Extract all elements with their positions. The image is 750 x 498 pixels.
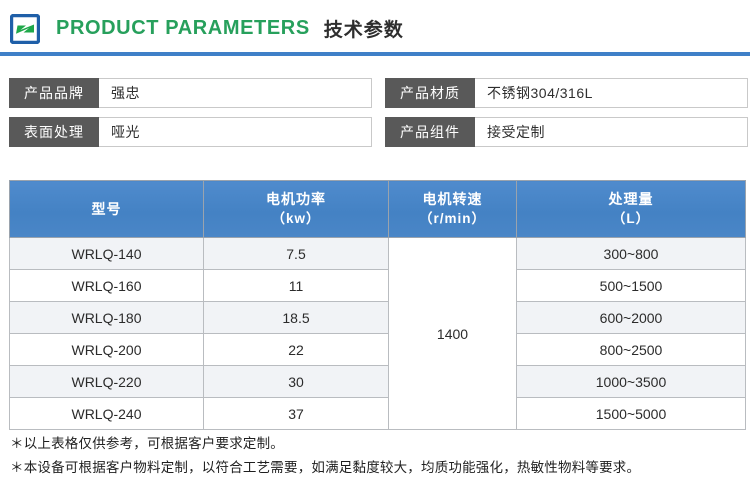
parameter-label: 产品组件	[385, 117, 475, 147]
table-row: WRLQ-220 30 1000~3500	[10, 366, 746, 398]
cell-power: 37	[204, 398, 389, 430]
parameter-value: 不锈钢304/316L	[475, 78, 748, 108]
parameter-row: 表面处理 哑光 产品组件 接受定制	[0, 117, 750, 147]
cell-capacity: 1000~3500	[517, 366, 746, 398]
cell-model: WRLQ-220	[10, 366, 204, 398]
cell-power: 18.5	[204, 302, 389, 334]
note-line-2: ＊本设备可根据客户物料定制，以符合工艺需要，如满足黏度较大，均质功能强化，热敏性…	[10, 456, 746, 480]
square-bolt-logo-icon	[10, 14, 40, 44]
cell-power: 30	[204, 366, 389, 398]
cell-capacity: 800~2500	[517, 334, 746, 366]
page-header: PRODUCT PARAMETERS 技术参数	[0, 0, 750, 56]
cell-power: 22	[204, 334, 389, 366]
column-header-model: 型号	[10, 181, 204, 238]
column-title: 电机转速	[423, 191, 483, 207]
table-row: WRLQ-180 18.5 600~2000	[10, 302, 746, 334]
cell-model: WRLQ-140	[10, 238, 204, 270]
parameter-item-component: 产品组件 接受定制	[385, 117, 748, 147]
parameter-item-brand: 产品品牌 强忠	[9, 78, 372, 108]
cell-rpm-merged: 1400	[389, 238, 517, 430]
parameter-value: 强忠	[99, 78, 372, 108]
cell-model: WRLQ-180	[10, 302, 204, 334]
parameter-item-surface: 表面处理 哑光	[9, 117, 372, 147]
parameter-row: 产品品牌 强忠 产品材质 不锈钢304/316L	[0, 78, 750, 108]
cell-capacity: 500~1500	[517, 270, 746, 302]
parameter-item-material: 产品材质 不锈钢304/316L	[385, 78, 748, 108]
spec-table: 型号 电机功率 （kw） 电机转速 （r/min） 处理量 （L）	[9, 180, 746, 430]
table-row: WRLQ-200 22 800~2500	[10, 334, 746, 366]
parameter-label: 产品材质	[385, 78, 475, 108]
spec-table-body: WRLQ-140 7.5 1400 300~800 WRLQ-160 11 50…	[10, 238, 746, 430]
header-divider	[0, 52, 750, 56]
column-header-rpm: 电机转速 （r/min）	[389, 181, 517, 238]
parameter-value: 接受定制	[475, 117, 748, 147]
cell-power: 11	[204, 270, 389, 302]
spec-table-container: 型号 电机功率 （kw） 电机转速 （r/min） 处理量 （L）	[9, 180, 741, 430]
page-title-en: PRODUCT PARAMETERS	[56, 17, 310, 40]
cell-capacity: 1500~5000	[517, 398, 746, 430]
cell-power: 7.5	[204, 238, 389, 270]
spec-table-head: 型号 电机功率 （kw） 电机转速 （r/min） 处理量 （L）	[10, 181, 746, 238]
column-unit: （r/min）	[389, 209, 516, 229]
cell-model: WRLQ-240	[10, 398, 204, 430]
table-row: WRLQ-140 7.5 1400 300~800	[10, 238, 746, 270]
parameter-value: 哑光	[99, 117, 372, 147]
cell-capacity: 600~2000	[517, 302, 746, 334]
parameter-label: 产品品牌	[9, 78, 99, 108]
column-title: 电机功率	[266, 191, 326, 207]
table-header-row: 型号 电机功率 （kw） 电机转速 （r/min） 处理量 （L）	[10, 181, 746, 238]
page-title-cn: 技术参数	[324, 15, 404, 42]
column-title: 处理量	[609, 191, 654, 207]
column-unit: （kw）	[204, 209, 388, 229]
cell-model: WRLQ-200	[10, 334, 204, 366]
table-row: WRLQ-160 11 500~1500	[10, 270, 746, 302]
column-unit: （L）	[517, 209, 745, 229]
cell-capacity: 300~800	[517, 238, 746, 270]
cell-model: WRLQ-160	[10, 270, 204, 302]
column-header-capacity: 处理量 （L）	[517, 181, 746, 238]
parameter-boxes: 产品品牌 强忠 产品材质 不锈钢304/316L 表面处理 哑光 产品组件 接受…	[0, 78, 750, 156]
footer-notes: ＊以上表格仅供参考，可根据客户要求定制。 ＊本设备可根据客户物料定制，以符合工艺…	[10, 432, 746, 480]
column-title: 型号	[92, 201, 122, 217]
parameter-label: 表面处理	[9, 117, 99, 147]
table-row: WRLQ-240 37 1500~5000	[10, 398, 746, 430]
column-header-power: 电机功率 （kw）	[204, 181, 389, 238]
note-line-1: ＊以上表格仅供参考，可根据客户要求定制。	[10, 432, 746, 456]
